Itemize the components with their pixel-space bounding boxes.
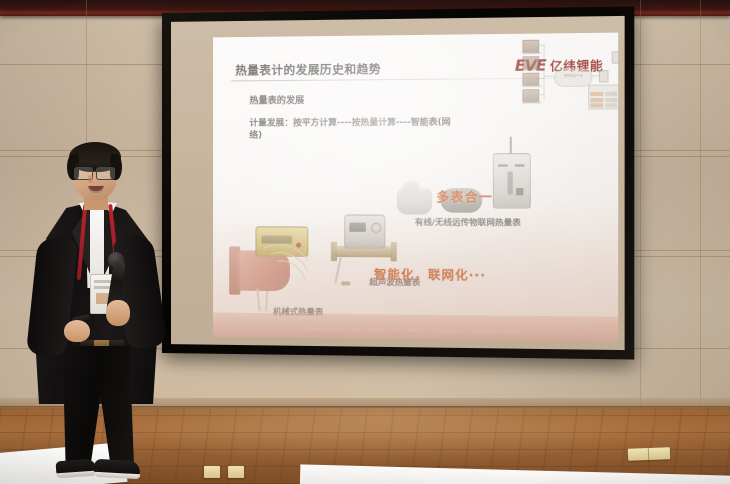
eyeglasses-lens xyxy=(96,167,115,180)
highlight-smart-networked: 智能化，联网化··· xyxy=(374,265,486,283)
ultrasonic-meter-display xyxy=(349,223,365,232)
wall-panel-line xyxy=(700,0,701,424)
floor-block xyxy=(204,466,220,478)
photo-scene: 热量表计的发展历史和趋势 EVE 亿纬锂能 热量表的发展 计量发展：按平方计算-… xyxy=(0,0,730,484)
diagram-connector xyxy=(544,44,545,100)
right-shoe-sole xyxy=(94,472,140,479)
eyeglasses-bridge xyxy=(91,171,96,172)
floor-book xyxy=(628,447,670,460)
diagram-table-cell xyxy=(590,92,603,96)
diagram-label xyxy=(522,52,541,54)
cloud-icon: 物联网云平台 xyxy=(554,68,592,87)
diagram-table-cell xyxy=(590,103,603,107)
network-diagram: 物联网云平台 xyxy=(522,37,618,118)
floor-block xyxy=(228,466,244,478)
right-hand xyxy=(106,300,130,326)
diagram-label xyxy=(522,102,541,104)
wall-panel-line xyxy=(640,0,641,424)
diagram-node xyxy=(612,51,618,64)
trousers xyxy=(58,346,134,470)
diagram-connector xyxy=(537,45,544,46)
nose xyxy=(88,175,93,183)
presenter xyxy=(28,142,164,484)
slide-body-text: 计量发展：按平方计算----按热量计算----智能表(网络) xyxy=(249,116,460,142)
caption-iot: 有线/无线远传物联网热量表 xyxy=(413,217,522,229)
diagram-label xyxy=(522,69,541,71)
highlight-multi-meter: 多表合一 xyxy=(436,186,493,206)
cloud-label: 物联网云平台 xyxy=(555,73,591,77)
projection-screen-surface: 热量表计的发展历史和趋势 EVE 亿纬锂能 热量表的发展 计量发展：按平方计算-… xyxy=(171,16,625,350)
diagram-table-cell xyxy=(605,103,617,107)
diagram-table-cell xyxy=(605,92,617,96)
diagram-table-cell xyxy=(590,98,603,102)
smart-meter-button xyxy=(498,164,507,166)
smart-meter-display xyxy=(508,172,513,195)
ultrasonic-meter-knob xyxy=(371,223,381,233)
left-hand xyxy=(64,320,90,342)
iot-meter-image xyxy=(397,188,432,215)
diagram-connector xyxy=(537,61,544,62)
diagram-table xyxy=(588,84,618,109)
slide-subtitle: 热量表的发展 xyxy=(249,93,304,106)
projection-screen-frame: 热量表计的发展历史和趋势 EVE 亿纬锂能 热量表的发展 计量发展：按平方计算-… xyxy=(162,6,634,359)
diagram-node xyxy=(599,70,609,83)
diagram-connector xyxy=(537,94,544,95)
slide-title: 热量表计的发展历史和趋势 xyxy=(235,61,381,79)
smart-meter-antenna xyxy=(510,137,512,154)
diagram-table-cell xyxy=(605,98,617,102)
presentation-slide: 热量表计的发展历史和趋势 EVE 亿纬锂能 热量表的发展 计量发展：按平方计算-… xyxy=(213,33,618,342)
diagram-label xyxy=(522,85,541,87)
mechanical-meter-indicator xyxy=(296,243,301,248)
smart-meter-button xyxy=(515,164,525,166)
mechanical-meter-display xyxy=(262,235,292,243)
diagram-connector xyxy=(537,78,544,79)
smart-meter-qr xyxy=(516,188,523,195)
